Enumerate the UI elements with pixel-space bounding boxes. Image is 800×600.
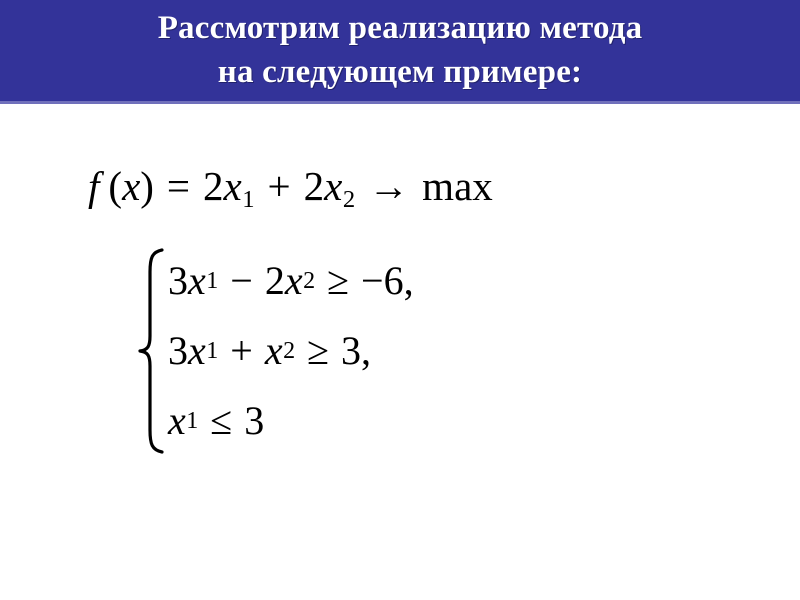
c1-relation: ≥ [327, 261, 349, 301]
c1-var1: x [188, 261, 206, 301]
objective-paren-open: ( [108, 163, 122, 209]
objective-term2-coefficient: 2 [304, 163, 325, 209]
c1-coef2: 2 [265, 261, 285, 301]
constraint-system: 3x1−2x2≥−6, 3x1+x2≥3, x1≤3 [136, 246, 414, 456]
constraint-row-2: 3x1+x2≥3, [168, 316, 414, 386]
objective-term1-variable: x [224, 163, 242, 209]
objective-term2-variable: x [324, 163, 342, 209]
objective-paren-close: ) [140, 163, 154, 209]
objective-argument: x [122, 163, 140, 209]
objective-arrow-icon: → [368, 163, 409, 209]
system-brace-icon [136, 246, 166, 456]
objective-function: f(x)=2x1+2x2→max [88, 166, 493, 207]
c1-rhs: −6 [361, 261, 404, 301]
c3-var1: x [168, 401, 186, 441]
objective-goal: max [422, 163, 493, 209]
objective-term2-subscript: 2 [342, 186, 355, 213]
c1-coef1: 3 [168, 261, 188, 301]
slide-title-line-2: на следующем примере: [218, 50, 582, 94]
c2-var1: x [188, 331, 206, 371]
constraint-rows: 3x1−2x2≥−6, 3x1+x2≥3, x1≤3 [166, 246, 414, 456]
objective-term1-subscript: 1 [242, 186, 255, 213]
c1-operator: − [230, 261, 253, 301]
slide-body: f(x)=2x1+2x2→max 3x1−2x2≥−6, 3x1+x2≥3, x… [0, 104, 800, 600]
c2-trailer: , [361, 331, 371, 371]
c2-coef1: 3 [168, 331, 188, 371]
constraint-row-1: 3x1−2x2≥−6, [168, 246, 414, 316]
slide-title-line-1: Рассмотрим реализацию метода [158, 6, 643, 50]
c1-var2: x [285, 261, 303, 301]
c1-trailer: , [404, 261, 414, 301]
objective-function-name: f [88, 163, 99, 209]
c3-rhs: 3 [244, 401, 264, 441]
objective-term1-coefficient: 2 [203, 163, 224, 209]
c2-var2: x [265, 331, 283, 371]
c2-relation: ≥ [307, 331, 329, 371]
slide-title-banner: Рассмотрим реализацию метода на следующе… [0, 0, 800, 104]
c2-operator: + [230, 331, 253, 371]
objective-plus-sign: + [268, 163, 291, 209]
c3-relation: ≤ [210, 401, 232, 441]
objective-equals-sign: = [167, 163, 190, 209]
c2-rhs: 3 [341, 331, 361, 371]
constraint-row-3: x1≤3 [168, 386, 414, 456]
